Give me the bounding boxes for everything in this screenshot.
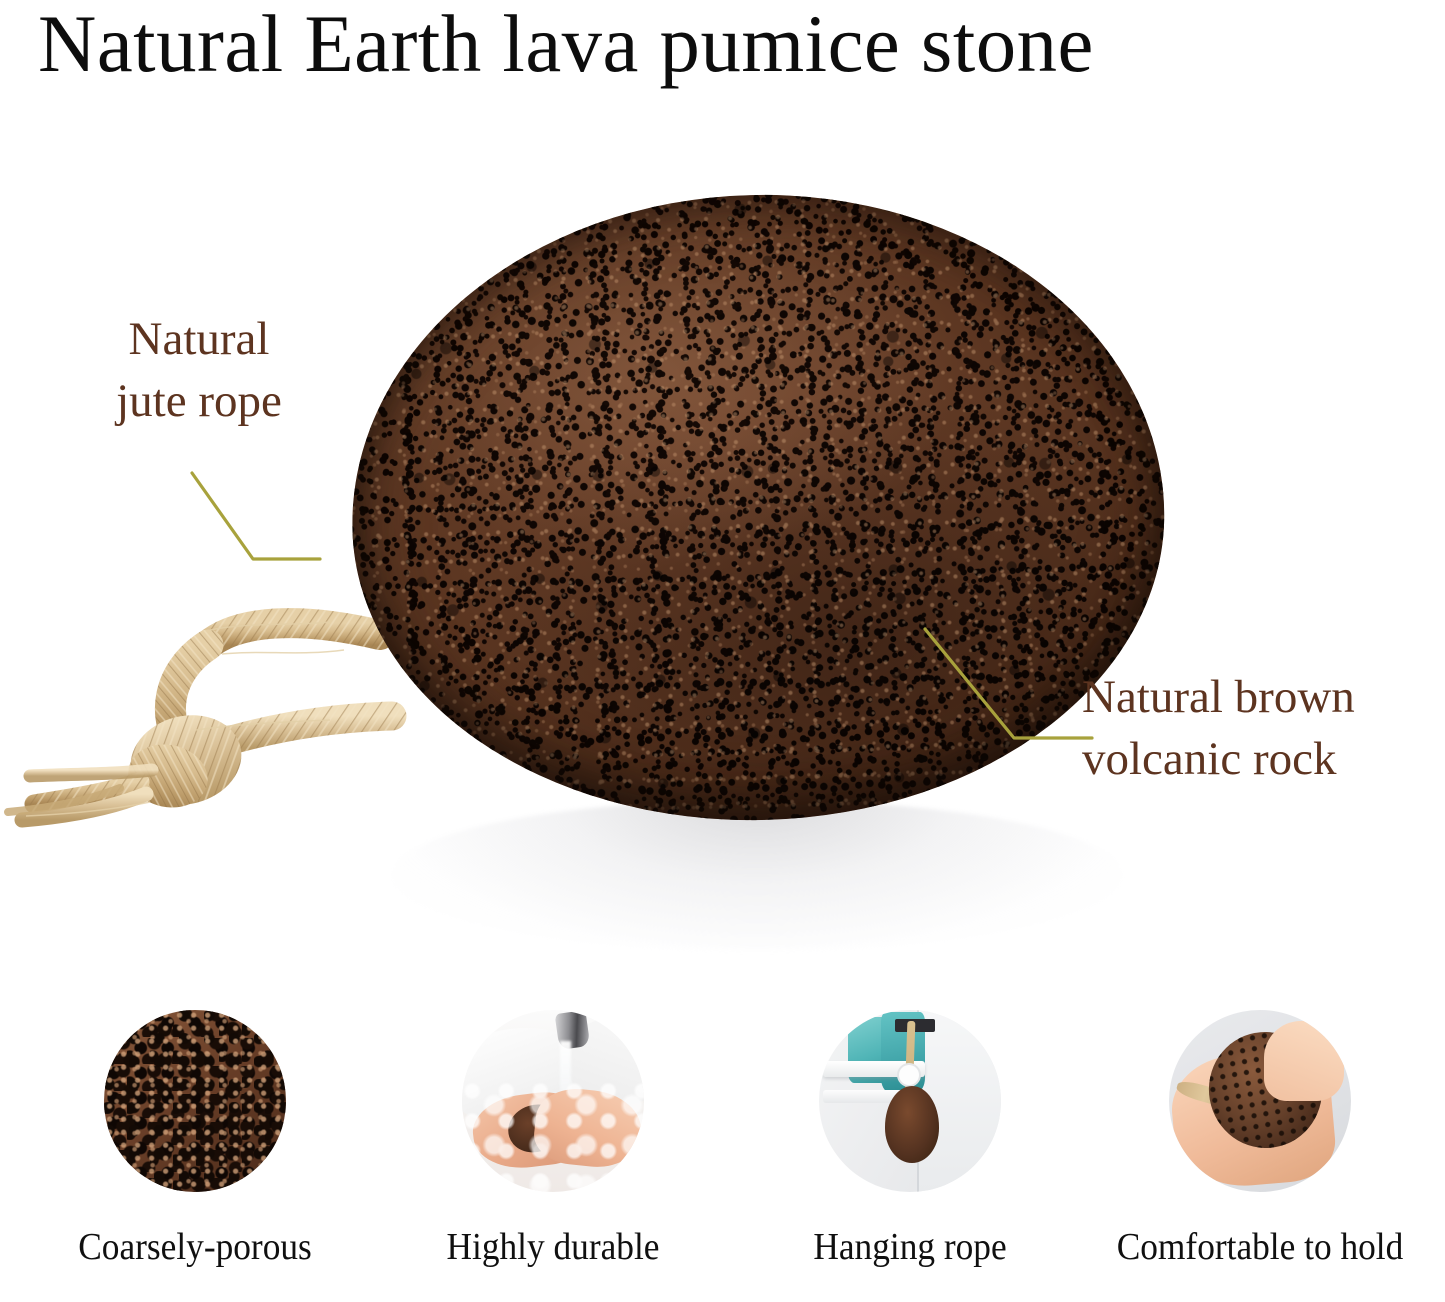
feature-item-highly-durable: Highly durable bbox=[388, 1010, 718, 1269]
feature-item-coarsely-porous: Coarsely-porous bbox=[30, 1010, 360, 1269]
feature-item-hanging-rope: Hanging rope bbox=[745, 1010, 1075, 1269]
page-title: Natural Earth lava pumice stone bbox=[38, 0, 1407, 92]
callout-jute-rope-line1: Natural bbox=[34, 308, 364, 370]
pumice-stone-image bbox=[352, 195, 1164, 820]
feature-item-comfortable-to-hold: Comfortable to hold bbox=[1095, 1010, 1425, 1269]
hanging-pumice-stone bbox=[885, 1086, 940, 1162]
feature-caption-coarsely-porous: Coarsely-porous bbox=[42, 1225, 349, 1269]
callout-jute-rope: Natural jute rope bbox=[34, 308, 364, 432]
pumice-stone-body bbox=[344, 184, 1172, 830]
callout-volcanic-rock-line1: Natural brown bbox=[1082, 666, 1442, 728]
thumb-stone-hanging-in-bathroom bbox=[819, 1010, 1001, 1192]
hero-product-section: Natural jute rope Natural brown volcanic… bbox=[0, 100, 1445, 980]
callout-volcanic-rock-line2: volcanic rock bbox=[1082, 728, 1442, 790]
shelf-hook bbox=[899, 1065, 919, 1085]
feature-caption-comfortable-to-hold: Comfortable to hold bbox=[1107, 1225, 1414, 1269]
thumb-washing-stone-under-faucet bbox=[462, 1010, 644, 1192]
callout-jute-rope-line2: jute rope bbox=[34, 370, 364, 432]
soap-foam bbox=[462, 1079, 644, 1192]
feature-caption-highly-durable: Highly durable bbox=[400, 1225, 707, 1269]
feature-caption-hanging-rope: Hanging rope bbox=[757, 1225, 1064, 1269]
thumb-coarsely-porous-texture bbox=[104, 1010, 286, 1192]
callout-volcanic-rock: Natural brown volcanic rock bbox=[1082, 666, 1442, 790]
feature-row: Coarsely-porous Highly durable bbox=[0, 1010, 1445, 1302]
porous-texture-highlights bbox=[104, 1010, 286, 1192]
fingers bbox=[1264, 1021, 1344, 1101]
thumb-stone-held-in-hand bbox=[1169, 1010, 1351, 1192]
razor-icon bbox=[895, 1019, 935, 1032]
pumice-large-pores bbox=[344, 184, 1172, 830]
